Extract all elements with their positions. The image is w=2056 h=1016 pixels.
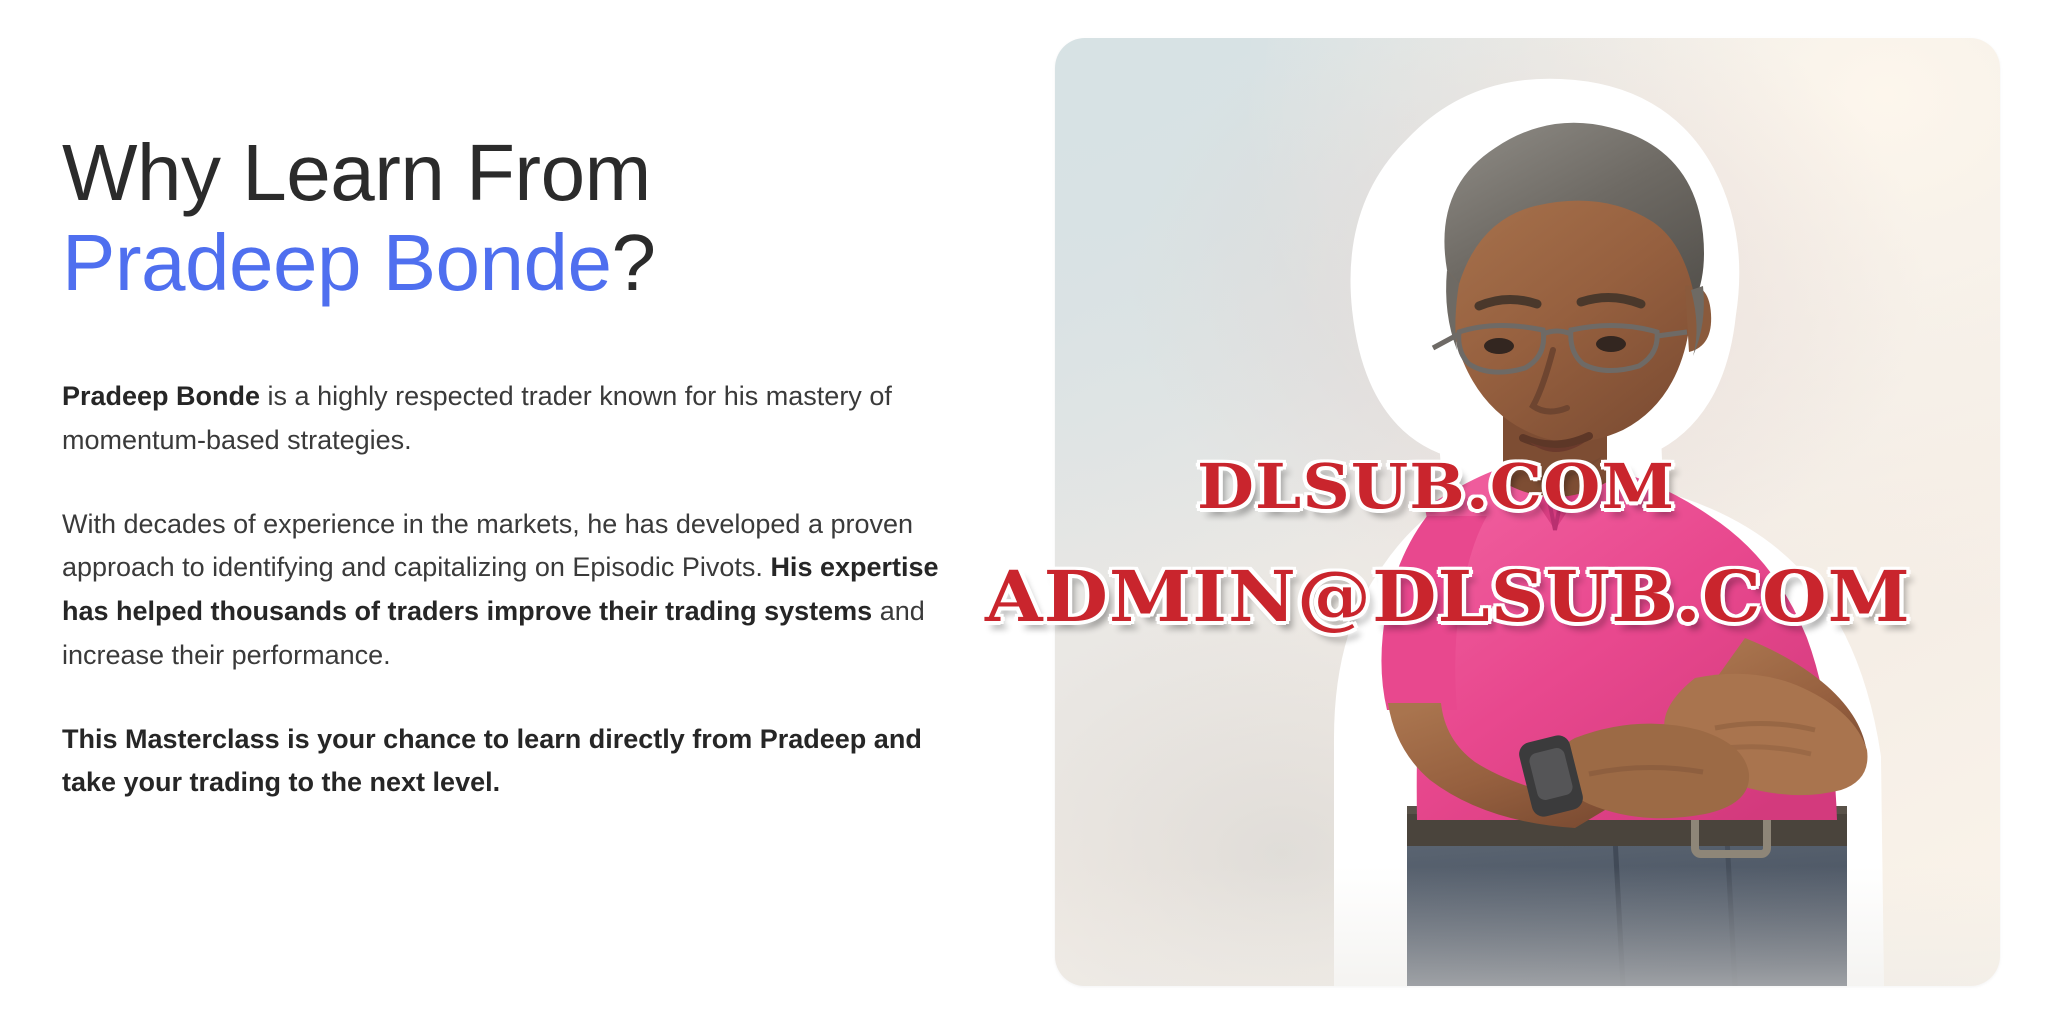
paragraph-masterclass: This Masterclass is your chance to learn… [62, 718, 957, 805]
paragraph-intro: Pradeep Bonde is a highly respected trad… [62, 375, 957, 462]
photo-bottom-fade [1055, 866, 2000, 986]
paragraph-intro-bold-name: Pradeep Bonde [62, 381, 260, 411]
headline-question-mark: ? [612, 218, 656, 307]
slide-root: Why Learn From Pradeep Bonde? Pradeep Bo… [0, 0, 2056, 1016]
watermark-email: ADMIN@DLSUB.COM [985, 555, 1911, 638]
headline-line-2: Pradeep Bonde? [62, 218, 992, 308]
watermark-site: DLSUB.COM [1197, 450, 1675, 523]
headline-line-1: Why Learn From [62, 128, 992, 218]
text-column: Why Learn From Pradeep Bonde? Pradeep Bo… [62, 0, 992, 1016]
paragraph-experience: With decades of experience in the market… [62, 503, 957, 678]
page-title: Why Learn From Pradeep Bonde? [62, 0, 992, 307]
headline-accent-name: Pradeep Bonde [62, 218, 612, 307]
body-copy: Pradeep Bonde is a highly respected trad… [62, 375, 957, 805]
